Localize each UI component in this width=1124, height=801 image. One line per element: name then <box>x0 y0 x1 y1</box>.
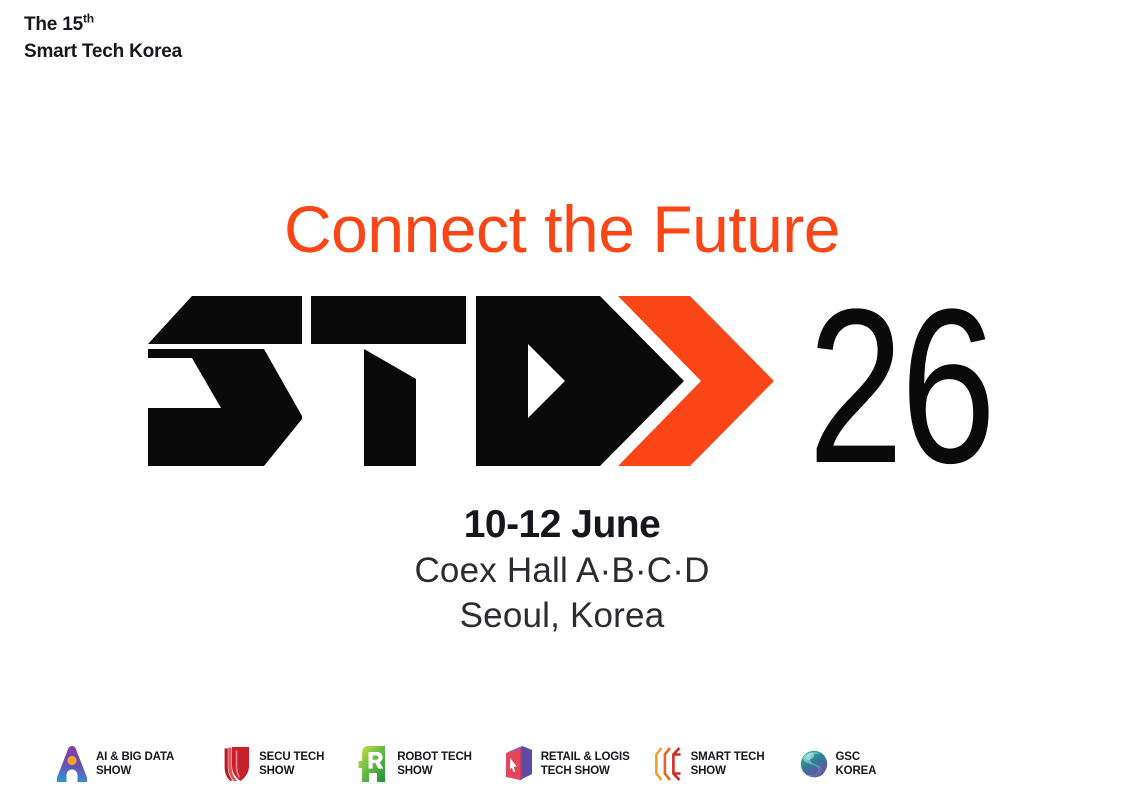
event-city: Seoul, Korea <box>0 594 1124 639</box>
edition-number: The 15 <box>24 14 83 35</box>
show-logo-ai-big-data[interactable]: AI & BIG DATA SHOW <box>55 741 174 787</box>
show-label-line1: RETAIL & LOGIS <box>541 750 630 764</box>
show-label-line1: AI & BIG DATA <box>96 750 174 764</box>
show-label-line2: SHOW <box>96 764 174 778</box>
event-venue: Coex Hall A·B·C·D <box>0 549 1124 594</box>
edition-line-2: Smart Tech Korea <box>24 39 182 66</box>
show-logo-secu-tech[interactable]: SECU TECH SHOW <box>222 741 324 787</box>
show-logo-strip: AI & BIG DATA SHOW SECU TECH SHOW <box>55 738 1069 790</box>
shield-icon <box>222 744 252 784</box>
stk26-logo-svg: STK26 26 <box>148 296 993 466</box>
show-logo-retail-logis[interactable]: RETAIL & LOGIS TECH SHOW <box>504 741 630 787</box>
show-label-gsc-korea: GSC KOREA <box>836 750 877 779</box>
parcel-box-icon <box>504 744 534 784</box>
logo-letter-t-stem <box>364 349 416 466</box>
show-logo-robot-tech[interactable]: ROBOT TECH SHOW <box>356 741 472 787</box>
logo-letter-k-stem <box>476 296 528 466</box>
show-label-line2: KOREA <box>836 764 877 778</box>
ai-arch-icon <box>55 744 89 784</box>
show-label-ai-big-data: AI & BIG DATA SHOW <box>96 750 174 779</box>
show-label-robot-tech: ROBOT TECH SHOW <box>397 750 472 779</box>
event-info: 10-12 June Coex Hall A·B·C·D Seoul, Kore… <box>0 502 1124 638</box>
show-label-line1: SECU TECH <box>259 750 324 764</box>
poster-canvas: The 15th Smart Tech Korea Connect the Fu… <box>0 0 1124 801</box>
edition-ordinal-suffix: th <box>83 12 94 26</box>
event-date: 10-12 June <box>0 502 1124 549</box>
show-logo-gsc-korea[interactable]: GSC KOREA <box>799 741 877 787</box>
show-label-smart-tech: SMART TECH SHOW <box>691 750 765 779</box>
show-label-line1: GSC <box>836 750 877 764</box>
tagline: Connect the Future <box>0 196 1124 262</box>
logo-letter-t-bar <box>311 296 466 344</box>
stk26-logo: STK26 26 <box>148 296 993 466</box>
show-label-secu-tech: SECU TECH SHOW <box>259 750 324 779</box>
logo-letter-s-top <box>148 296 302 344</box>
edition-block: The 15th Smart Tech Korea <box>24 12 182 66</box>
robot-head-icon <box>356 744 390 784</box>
show-label-line2: SHOW <box>259 764 324 778</box>
edition-line-1: The 15th <box>24 12 182 39</box>
globe-sphere-icon <box>799 744 829 784</box>
show-label-line1: SMART TECH <box>691 750 765 764</box>
show-label-line2: SHOW <box>397 764 472 778</box>
show-label-line2: TECH SHOW <box>541 764 630 778</box>
show-label-line1: ROBOT TECH <box>397 750 472 764</box>
show-label-line2: SHOW <box>691 764 765 778</box>
show-logo-smart-tech[interactable]: SMART TECH SHOW <box>654 741 765 787</box>
show-label-retail-logis: RETAIL & LOGIS TECH SHOW <box>541 750 630 779</box>
ai-arch-dot <box>67 756 76 765</box>
logo-letter-s-body <box>148 349 302 466</box>
chevron-stack-icon <box>654 744 684 784</box>
logo-year-26: 26 <box>808 296 993 466</box>
